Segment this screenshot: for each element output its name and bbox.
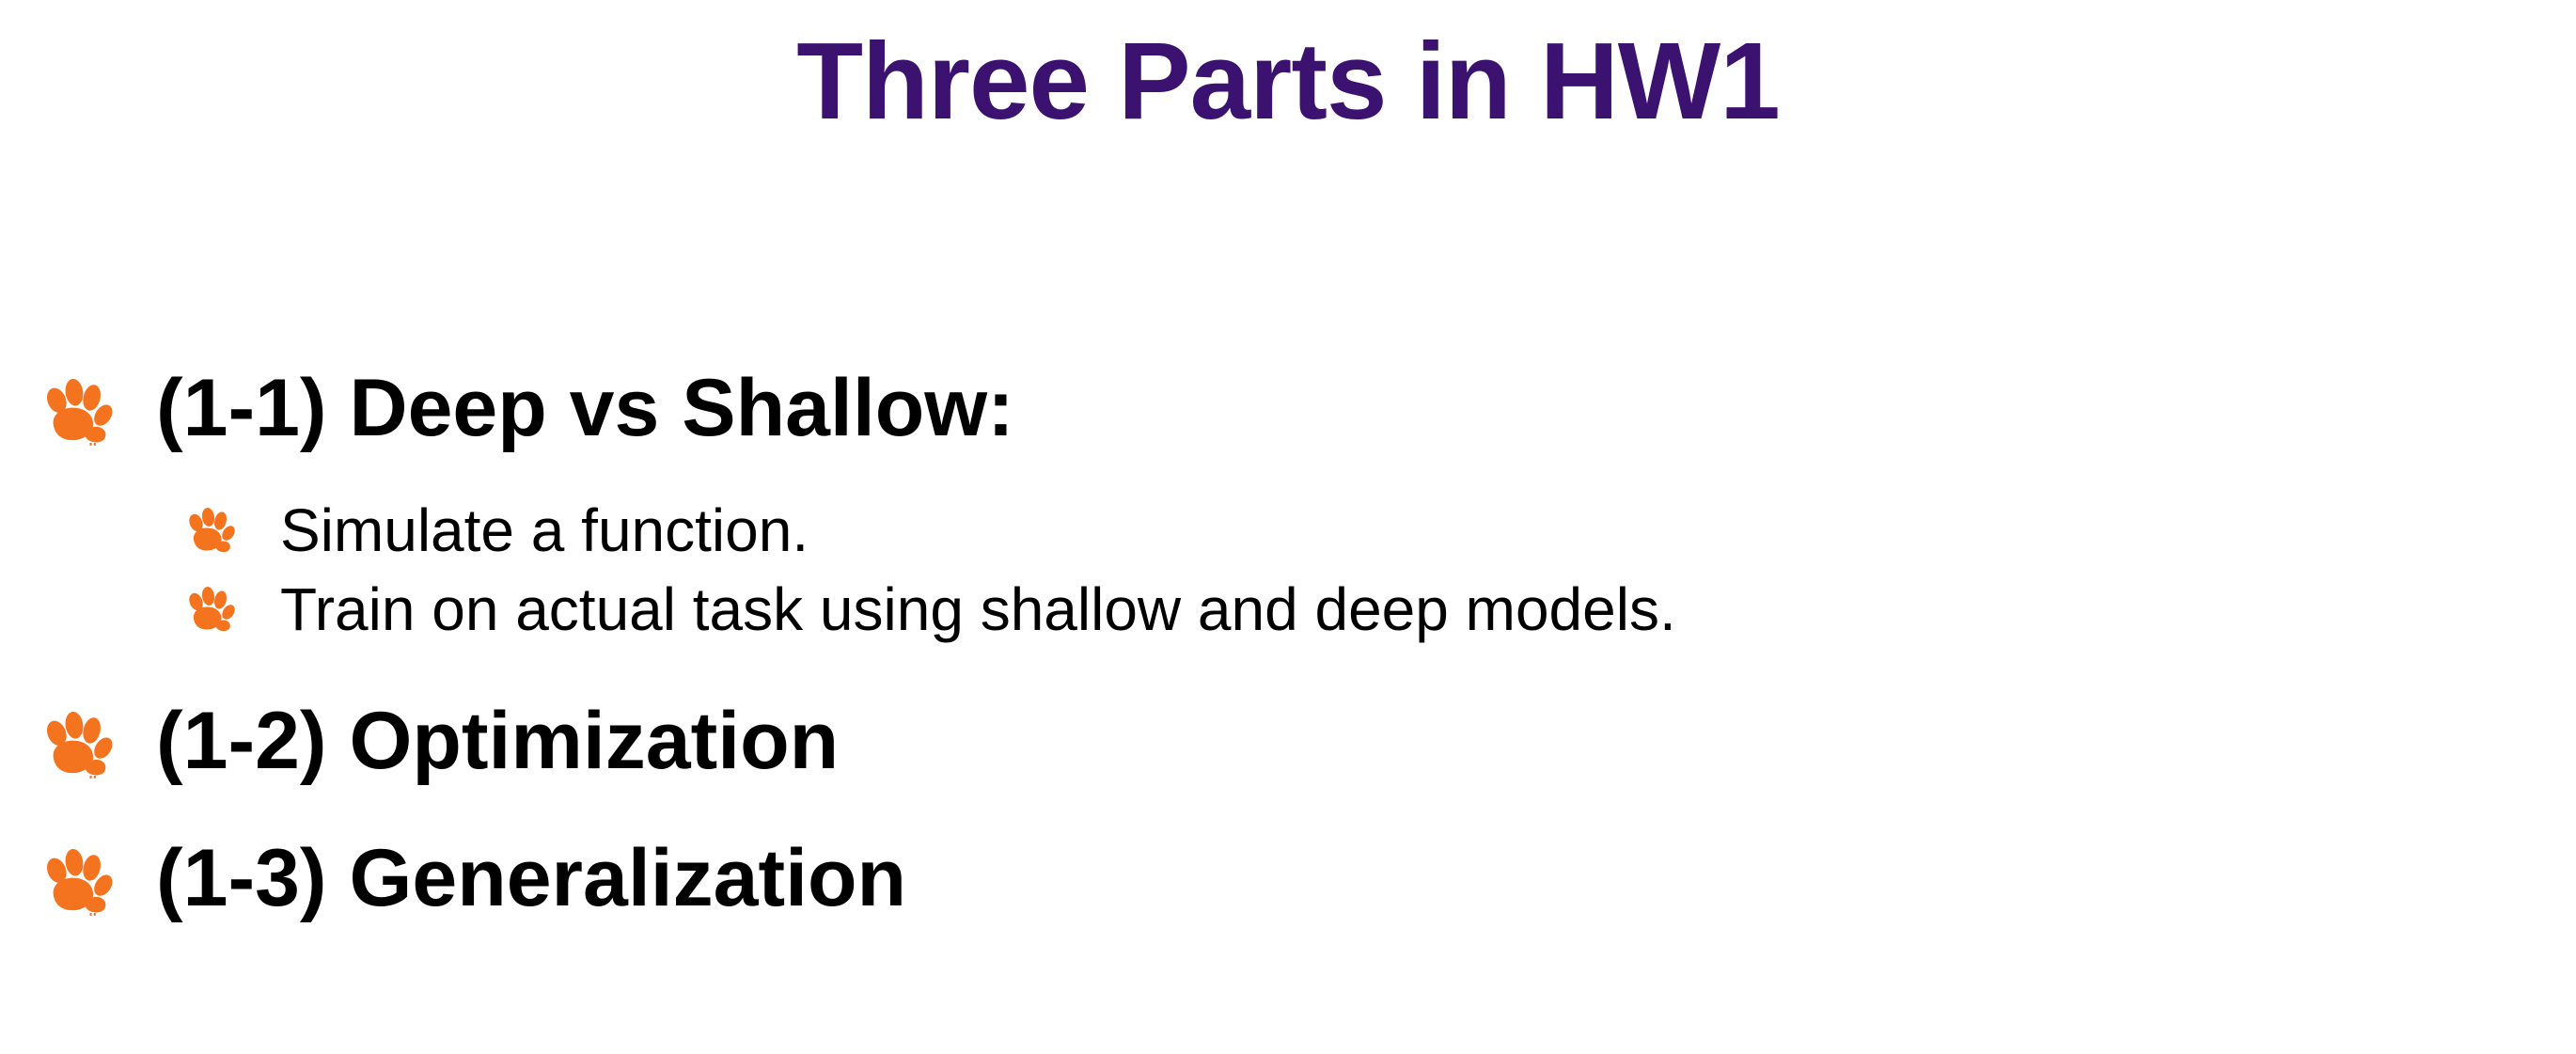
clemson-tiger-paw-icon (188, 572, 241, 635)
list-item: (1-2) Optimization (0, 688, 2576, 799)
list-item: Simulate a function. (0, 493, 2576, 572)
clemson-tiger-paw-icon (45, 688, 118, 780)
list-item-label: Simulate a function. (241, 493, 809, 568)
slide-canvas: Three Parts in HW1 (0, 0, 2576, 1054)
list-item: (1-3) Generalization (0, 826, 2576, 936)
list-item-label: (1-2) Optimization (118, 688, 839, 794)
list-item-label: (1-1) Deep vs Shallow: (118, 355, 1014, 461)
bullet-list: (1-1) Deep vs Shallow: Simulate a functi (0, 355, 2576, 942)
page-title: Three Parts in HW1 (0, 26, 2576, 135)
clemson-tiger-paw-icon (188, 493, 241, 556)
list-item: (1-1) Deep vs Shallow: (0, 355, 2576, 466)
clemson-tiger-paw-icon (45, 355, 118, 448)
list-item-label: (1-3) Generalization (118, 826, 906, 931)
spacer (0, 651, 2576, 688)
list-item-label: Train on actual task using shallow and d… (241, 572, 1676, 647)
spacer (0, 805, 2576, 826)
clemson-tiger-paw-icon (45, 826, 118, 918)
spacer (0, 472, 2576, 493)
list-item: Train on actual task using shallow and d… (0, 572, 2576, 651)
